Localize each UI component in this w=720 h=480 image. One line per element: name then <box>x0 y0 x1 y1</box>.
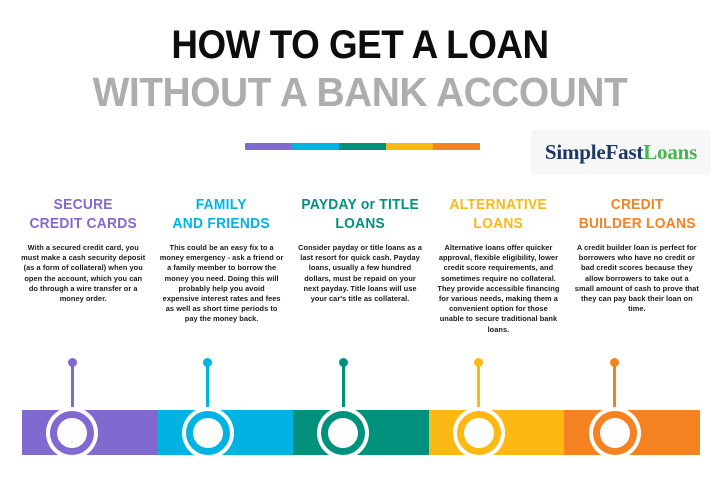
method-heading-4: ALTERNATIVELOANS <box>439 196 557 234</box>
timeline-marker-dot-5 <box>610 358 619 367</box>
page-title: HOW TO GET A LOAN <box>29 25 691 65</box>
method-column-5: CREDITBUILDER LOANSA credit builder loan… <box>568 196 706 341</box>
timeline-marker-5 <box>585 350 645 470</box>
method-heading-line2-1: CREDIT CARDS <box>24 215 142 234</box>
timeline-marker-dot-2 <box>203 358 212 367</box>
timeline-marker-ring-2 <box>186 411 230 455</box>
method-heading-line2-4: LOANS <box>439 215 557 234</box>
method-heading-2: FAMILYAND FRIENDS <box>163 196 281 234</box>
timeline-marker-2 <box>178 350 238 470</box>
method-column-2: FAMILYAND FRIENDSThis could be an easy f… <box>152 196 290 341</box>
method-body-3: Consider payday or title loans as a last… <box>298 243 422 304</box>
method-heading-line2-3: LOANS <box>301 215 419 234</box>
method-body-5: A credit builder loan is perfect for bor… <box>575 243 699 314</box>
method-heading-line1-3: PAYDAY or TITLE <box>301 196 419 215</box>
method-heading-line1-4: ALTERNATIVE <box>439 196 557 215</box>
timeline-marker-dot-4 <box>474 358 483 367</box>
method-body-1: With a secured credit card, you must mak… <box>21 243 145 304</box>
timeline-marker-ring-5 <box>593 411 637 455</box>
brand-name-secondary: Loans <box>643 140 697 164</box>
timeline-marker-ring-4 <box>457 411 501 455</box>
method-heading-line1-1: SECURE <box>24 196 142 215</box>
method-heading-line2-5: BUILDER LOANS <box>578 215 696 234</box>
accent-rule <box>245 143 480 150</box>
accent-rule-segment-3 <box>339 143 386 150</box>
accent-rule-segment-5 <box>433 143 480 150</box>
brand-logo: SimpleFastLoans <box>531 130 711 175</box>
accent-rule-segment-2 <box>292 143 339 150</box>
method-heading-1: SECURECREDIT CARDS <box>24 196 142 234</box>
method-column-1: SECURECREDIT CARDSWith a secured credit … <box>14 196 152 341</box>
method-heading-line1-2: FAMILY <box>163 196 281 215</box>
brand-name-primary: SimpleFast <box>545 140 643 164</box>
timeline-marker-ring-1 <box>50 411 94 455</box>
timeline-marker-3 <box>313 350 373 470</box>
method-column-3: PAYDAY or TITLELOANSConsider payday or t… <box>291 196 429 341</box>
accent-rule-segment-4 <box>386 143 433 150</box>
timeline <box>0 350 720 470</box>
accent-rule-segment-1 <box>245 143 292 150</box>
method-heading-line2-2: AND FRIENDS <box>163 215 281 234</box>
timeline-marker-dot-3 <box>339 358 348 367</box>
method-column-4: ALTERNATIVELOANSAlternative loans offer … <box>429 196 567 341</box>
method-heading-line1-5: CREDIT <box>578 196 696 215</box>
method-heading-5: CREDITBUILDER LOANS <box>578 196 696 234</box>
method-body-2: This could be an easy fix to a money eme… <box>159 243 283 325</box>
timeline-marker-1 <box>42 350 102 470</box>
method-heading-3: PAYDAY or TITLELOANS <box>301 196 419 234</box>
brand-logo-text: SimpleFastLoans <box>545 140 697 165</box>
method-body-4: Alternative loans offer quicker approval… <box>436 243 560 335</box>
timeline-marker-dot-1 <box>68 358 77 367</box>
page-subtitle: WITHOUT A BANK ACCOUNT <box>18 70 702 114</box>
infographic-page: HOW TO GET A LOAN WITHOUT A BANK ACCOUNT… <box>0 0 720 480</box>
timeline-marker-4 <box>449 350 509 470</box>
method-columns: SECURECREDIT CARDSWith a secured credit … <box>14 196 706 341</box>
